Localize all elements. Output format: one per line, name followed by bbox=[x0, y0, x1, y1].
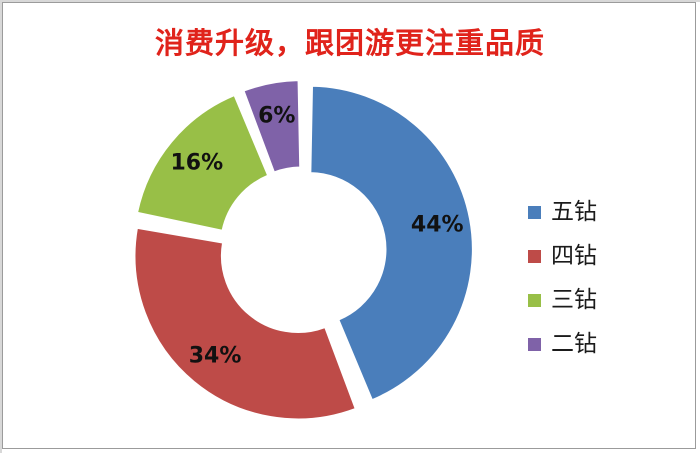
donut-chart-plot-area: 44%34%16%6% bbox=[130, 78, 475, 423]
donut-chart-svg: 44%34%16%6% bbox=[130, 78, 475, 423]
chart-screenshot: 消费升级，跟团游更注重品质 44%34%16%6% 五钻四钻三钻二钻 bbox=[0, 0, 700, 453]
chart-title: 消费升级，跟团游更注重品质 bbox=[0, 20, 700, 62]
legend-color-swatch bbox=[528, 250, 541, 263]
slice-value-label: 16% bbox=[170, 151, 223, 176]
legend-color-swatch bbox=[528, 338, 541, 351]
legend-item-label: 二钻 bbox=[551, 333, 597, 356]
legend-item-label: 四钻 bbox=[551, 245, 597, 268]
donut-slices bbox=[135, 81, 472, 419]
slice-value-label: 6% bbox=[258, 103, 295, 128]
legend-item-label: 三钻 bbox=[551, 289, 597, 312]
legend-item[interactable]: 五钻 bbox=[528, 190, 648, 234]
donut-slice[interactable] bbox=[135, 228, 355, 418]
legend-item[interactable]: 三钻 bbox=[528, 278, 648, 322]
legend-color-swatch bbox=[528, 294, 541, 307]
legend-color-swatch bbox=[528, 206, 541, 219]
legend-item[interactable]: 二钻 bbox=[528, 322, 648, 366]
donut-slice[interactable] bbox=[311, 86, 473, 399]
chart-legend: 五钻四钻三钻二钻 bbox=[528, 190, 648, 366]
slice-value-label: 44% bbox=[411, 212, 464, 237]
legend-item-label: 五钻 bbox=[551, 201, 597, 224]
legend-item[interactable]: 四钻 bbox=[528, 234, 648, 278]
slice-value-label: 34% bbox=[189, 344, 242, 369]
